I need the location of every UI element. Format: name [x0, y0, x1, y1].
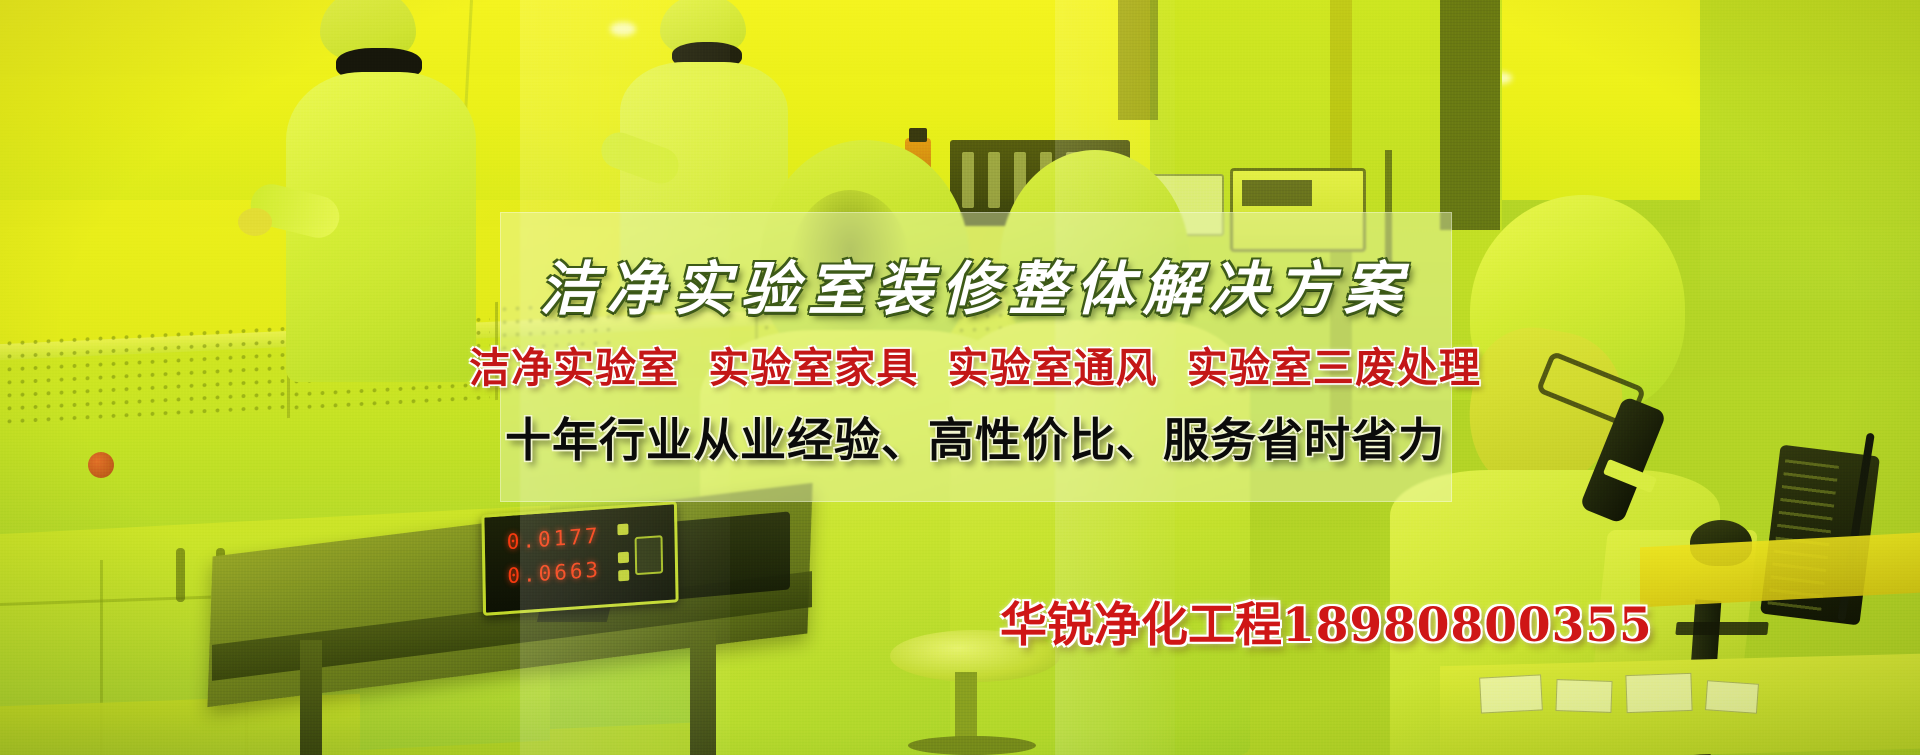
- ceiling-light: [610, 22, 636, 36]
- meter-indicator-led: [618, 570, 629, 582]
- tagline: 十年行业从业经验、高性价比、服务省时省力: [505, 404, 1445, 470]
- technician-hand: [238, 208, 272, 236]
- meter-reading-line1: 0.0177: [507, 524, 601, 555]
- cabinet-handle: [176, 548, 185, 602]
- paper-sheet: [1479, 674, 1543, 713]
- equipment-screen: [1242, 180, 1312, 206]
- lab-stool-base: [908, 736, 1036, 755]
- emergency-button: [88, 452, 114, 478]
- contact-line: 华锐净化工程18980800355: [1000, 586, 1653, 655]
- microscope-brand-label: [1675, 622, 1768, 635]
- headline: 洁净实验室装修整体解决方案: [539, 242, 1410, 326]
- bottle-cap: [909, 128, 927, 142]
- digital-readout-meter: 0.0177 0.0663: [481, 501, 678, 616]
- rack-slot: [988, 152, 1000, 208]
- paper-sheet: [1625, 673, 1692, 713]
- wall-shadow-panel: [1440, 0, 1500, 230]
- wall-shadow-panel: [1118, 0, 1158, 120]
- service-item-1: 洁净实验室: [469, 344, 679, 392]
- company-name: 华锐净化工程: [1000, 598, 1282, 653]
- rack-slot: [962, 152, 974, 208]
- perforated-panel: [0, 322, 290, 433]
- wall-column: [1700, 0, 1920, 300]
- meter-reading-line2: 0.0663: [507, 558, 601, 589]
- paper-sheet: [1555, 679, 1612, 713]
- advertising-banner: 0.0177 0.0663 洁净实验室装修整体解决方案 洁净实验室 实验室家具 …: [0, 0, 1920, 755]
- table-leg: [300, 640, 322, 755]
- service-list: 洁净实验室 实验室家具 实验室通风 实验室三废处理: [462, 334, 1488, 394]
- meter-button: [635, 535, 664, 575]
- service-item-4: 实验室三废处理: [1187, 344, 1481, 392]
- headline-copy-block: 洁净实验室装修整体解决方案 洁净实验室 实验室家具 实验室通风 实验室三废处理 …: [500, 212, 1450, 500]
- meter-indicator-led: [618, 552, 629, 564]
- table-leg: [690, 630, 716, 755]
- meter-indicator-led: [617, 524, 628, 536]
- service-item-2: 实验室家具: [708, 344, 918, 392]
- service-item-3: 实验室通风: [948, 344, 1158, 392]
- phone-number: 18980800355: [1282, 598, 1653, 653]
- paper-sheet: [1705, 680, 1759, 714]
- lab-stool-post: [955, 672, 977, 742]
